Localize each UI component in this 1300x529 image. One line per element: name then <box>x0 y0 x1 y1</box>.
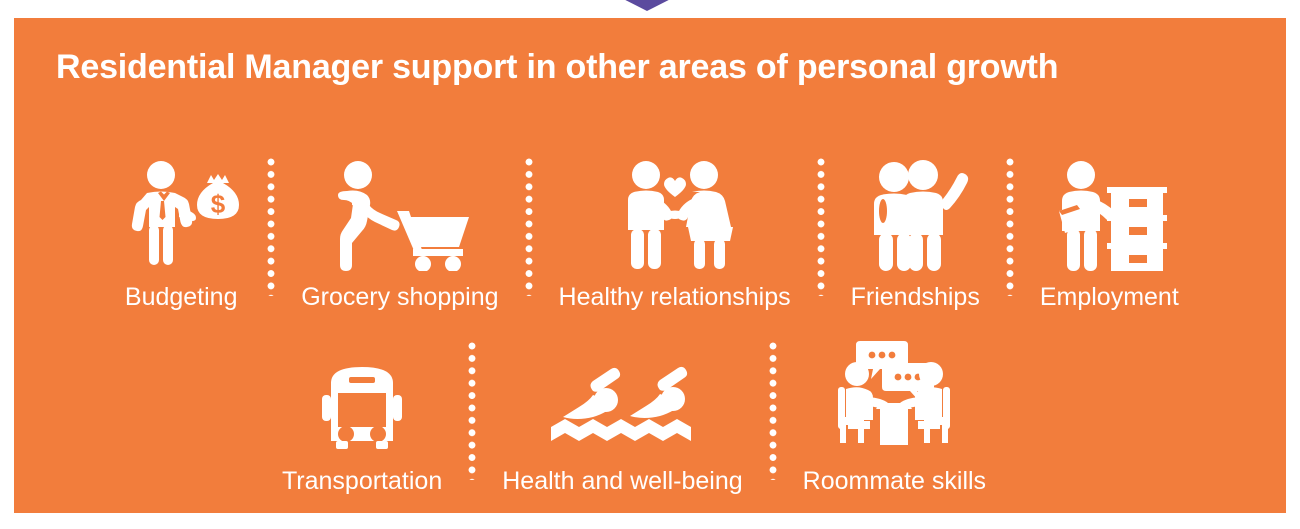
item-employment[interactable]: Employment <box>1028 151 1191 310</box>
two-people-at-table-speech-bubbles-icon <box>824 335 964 455</box>
page-title: Residential Manager support in other are… <box>56 48 1256 87</box>
item-label: Healthy relationships <box>559 285 791 310</box>
two-swimmers-in-water-icon <box>547 335 697 455</box>
icon-row-1: $ Budgeting <box>34 130 1266 310</box>
dotted-divider <box>1006 158 1014 296</box>
item-label: Budgeting <box>125 285 238 310</box>
dotted-divider <box>525 158 533 296</box>
person-with-filing-cabinet-icon <box>1049 151 1169 271</box>
dotted-divider <box>468 342 476 480</box>
person-pushing-shopping-cart-icon <box>325 151 475 271</box>
item-healthy-relationships[interactable]: Healthy relationships <box>547 151 803 310</box>
item-roommate-skills[interactable]: Roommate skills <box>791 335 998 494</box>
dotted-divider <box>769 342 777 480</box>
item-grocery-shopping[interactable]: Grocery shopping <box>289 151 510 310</box>
purple-hexagon-accent-icon <box>612 0 682 11</box>
dotted-divider <box>267 158 275 296</box>
bus-front-icon <box>309 335 415 455</box>
item-transportation[interactable]: Transportation <box>270 335 454 494</box>
item-label: Grocery shopping <box>301 285 498 310</box>
item-budgeting[interactable]: $ Budgeting <box>109 151 253 310</box>
orange-content-panel: Residential Manager support in other are… <box>14 18 1286 513</box>
infographic-panel: Residential Manager support in other are… <box>0 0 1300 529</box>
person-with-money-bag-icon: $ <box>121 151 241 271</box>
dotted-divider <box>817 158 825 296</box>
item-label: Friendships <box>851 285 980 310</box>
item-friendships[interactable]: Friendships <box>839 151 992 310</box>
svg-text:$: $ <box>211 189 226 219</box>
item-label: Roommate skills <box>803 469 986 494</box>
icon-row-2: Transportation Health and well- <box>184 314 1084 494</box>
item-label: Transportation <box>282 469 442 494</box>
item-health-wellbeing[interactable]: Health and well-being <box>490 335 754 494</box>
item-label: Employment <box>1040 285 1179 310</box>
two-friends-arm-around-waving-icon <box>860 151 970 271</box>
couple-holding-hands-heart-icon <box>610 151 740 271</box>
item-label: Health and well-being <box>502 469 742 494</box>
